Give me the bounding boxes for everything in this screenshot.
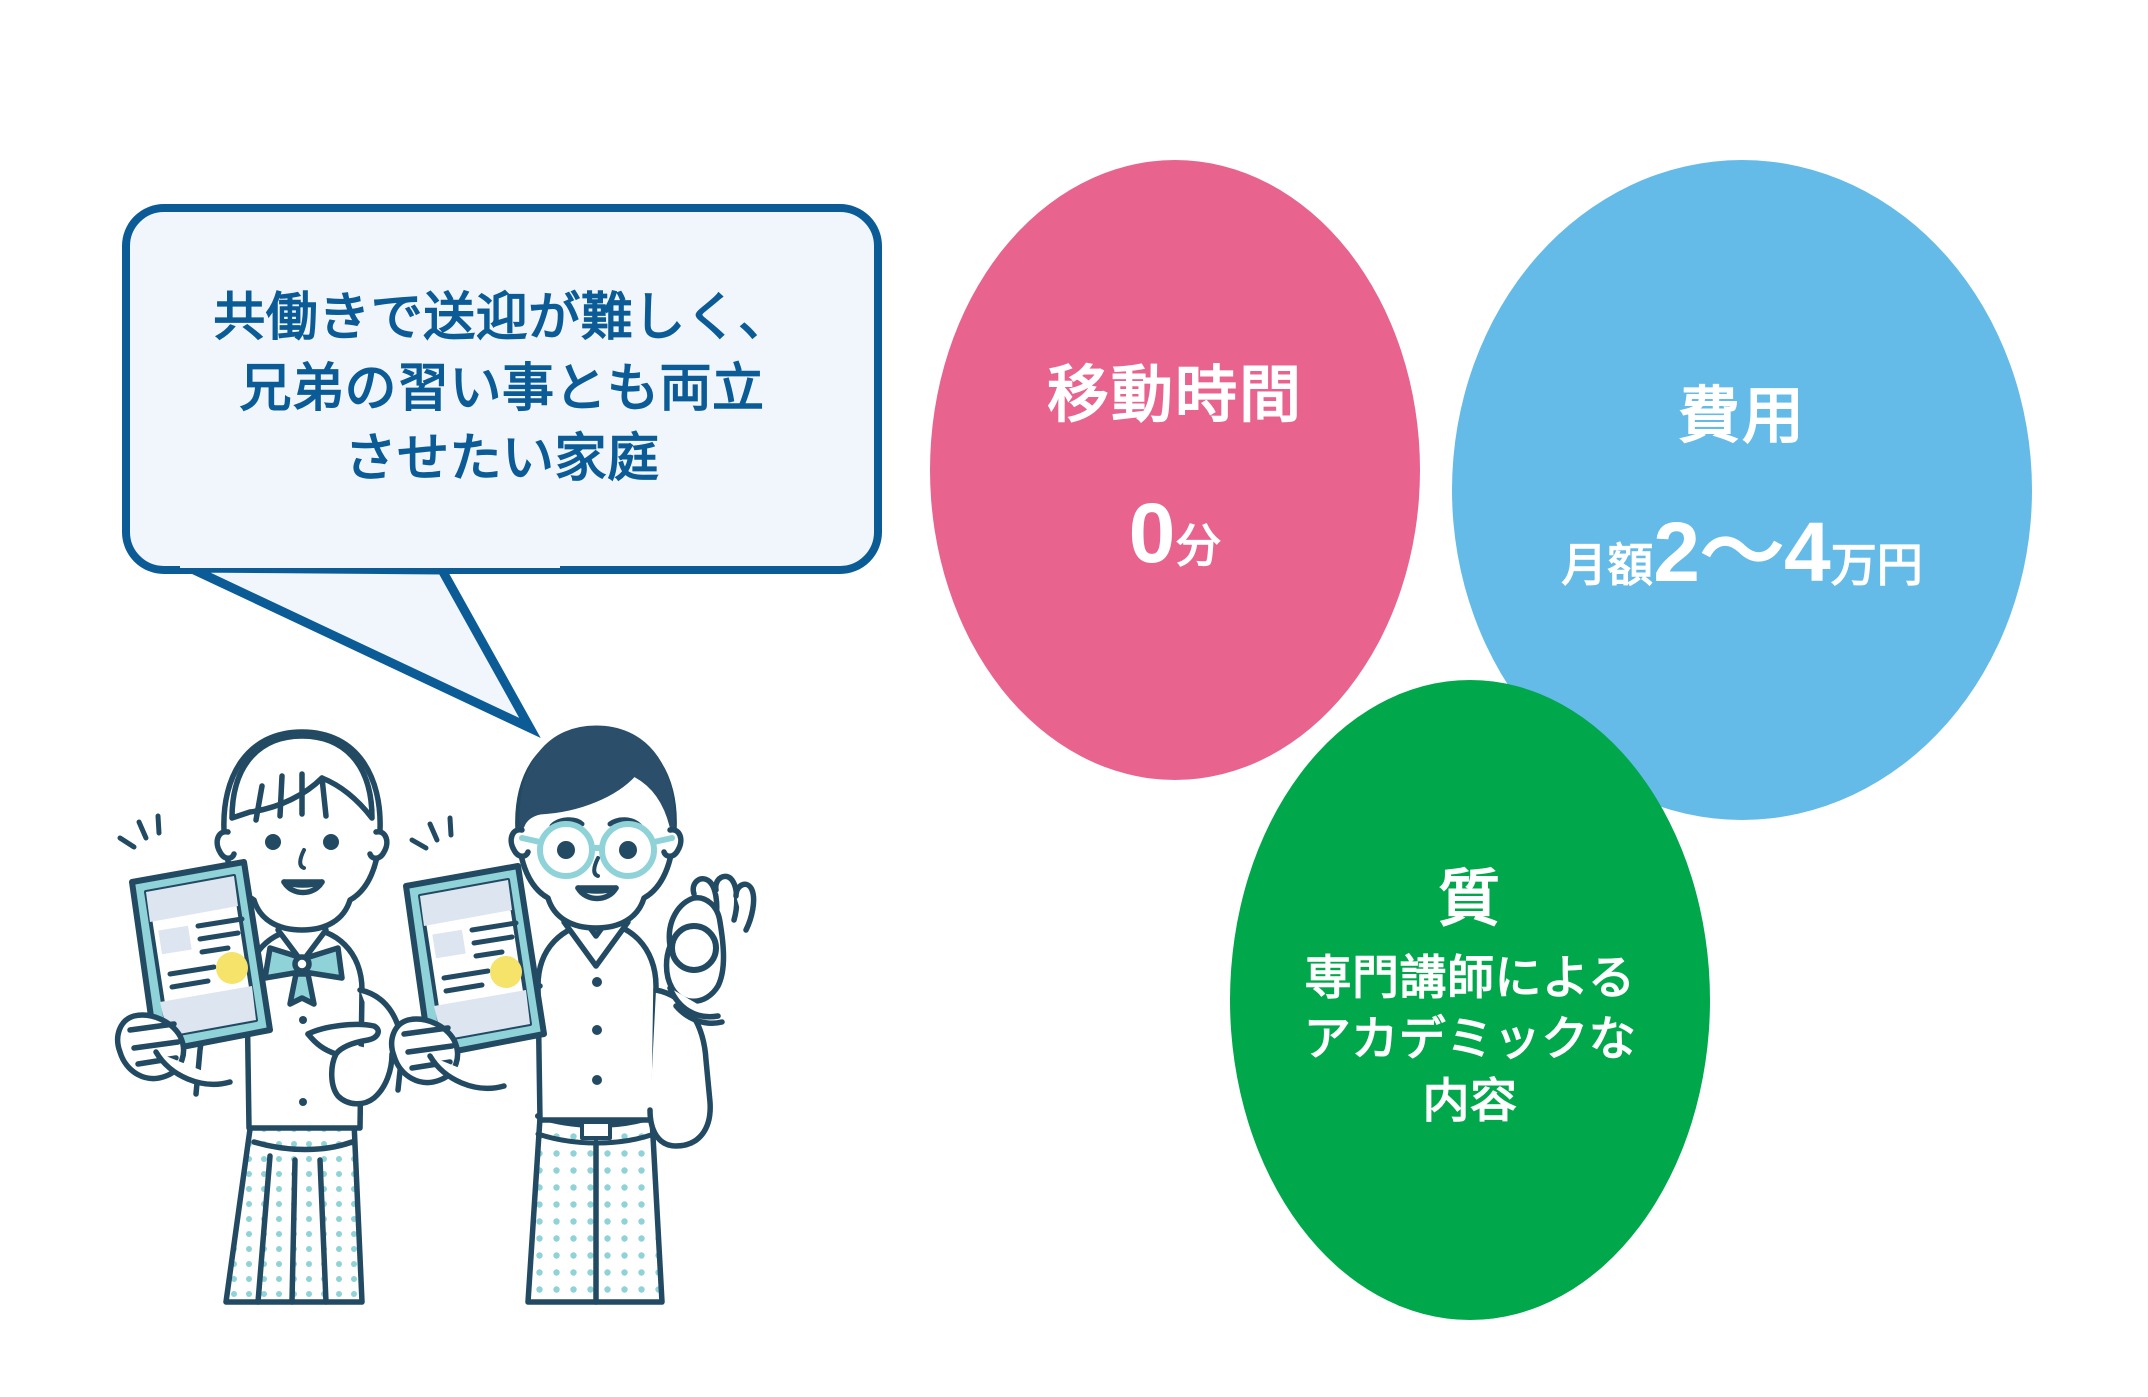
quality-body-text: 専門講師による アカデミックな 内容 <box>1304 947 1637 1130</box>
quality-heading: 質 <box>1438 869 1502 931</box>
students-illustration <box>110 690 910 1310</box>
cost-value-number: 2〜4 <box>1653 510 1830 594</box>
travel-time-value-number: 0 <box>1129 491 1176 575</box>
ok-hand-icon <box>667 876 754 1023</box>
travel-time-value: 0 分 <box>1129 491 1222 575</box>
cost-value-suffix: 万円 <box>1831 542 1923 588</box>
travel-time-value-unit: 分 <box>1175 523 1221 569</box>
cost-value: 月額 2〜4 万円 <box>1561 510 1922 594</box>
cost-heading: 費用 <box>1678 386 1806 448</box>
stat-circle-travel-time: 移動時間 0 分 <box>930 160 1420 780</box>
sparkle-icon-left <box>120 816 159 847</box>
speech-bubble-text: 共働きで送迎が難しく、 兄弟の習い事とも両立 させたい家庭 <box>213 283 791 495</box>
cost-value-prefix: 月額 <box>1561 542 1653 588</box>
sparkle-icon-right <box>412 818 451 848</box>
girl-student <box>118 732 402 1302</box>
travel-time-heading: 移動時間 <box>1047 365 1303 427</box>
speech-bubble: 共働きで送迎が難しく、 兄弟の習い事とも両立 させたい家庭 <box>122 204 882 574</box>
stat-circle-quality: 質 専門講師による アカデミックな 内容 <box>1230 680 1710 1320</box>
boy-student <box>392 728 754 1302</box>
